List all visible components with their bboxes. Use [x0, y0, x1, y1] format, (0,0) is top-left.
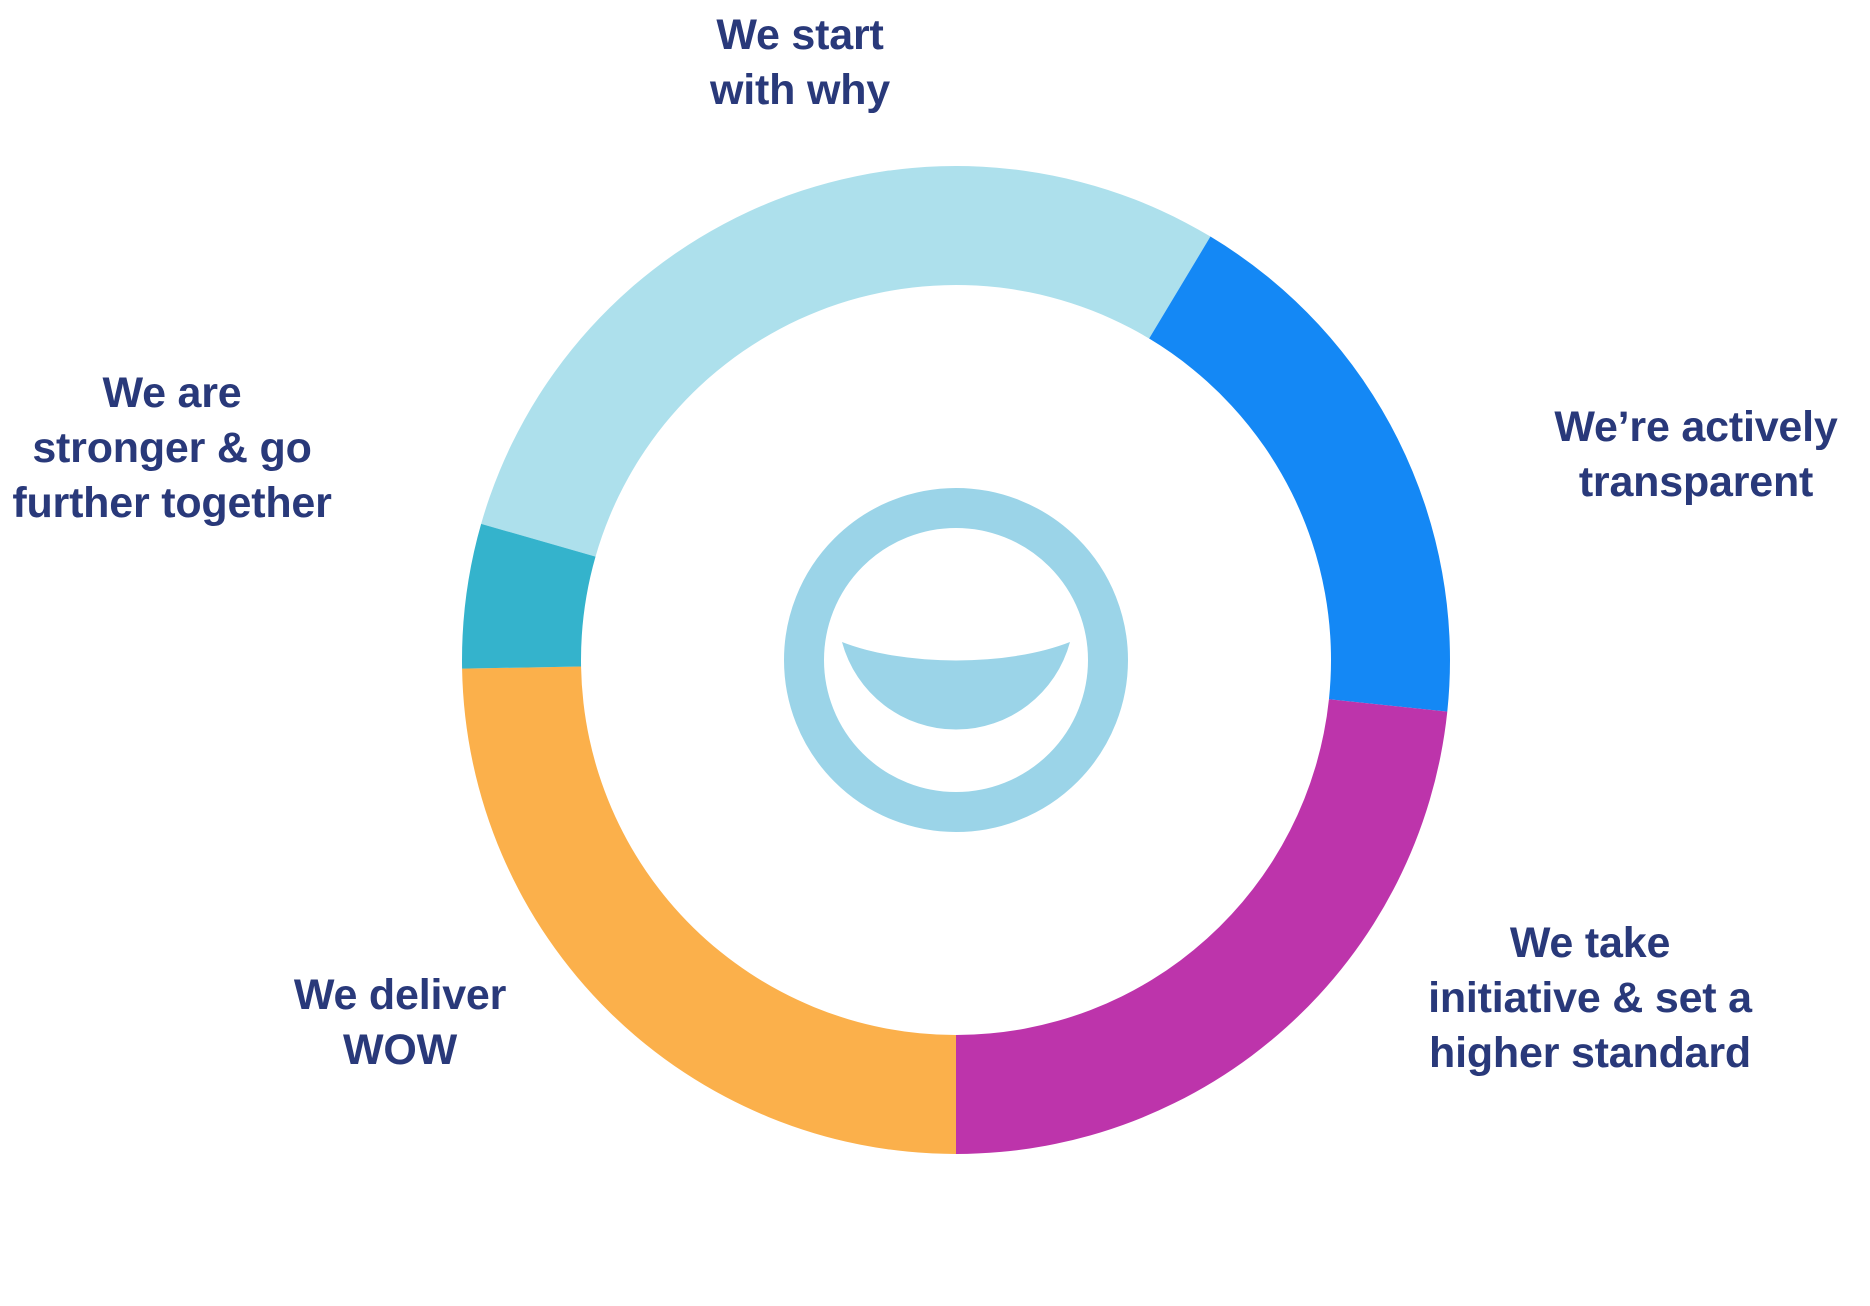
value-label-stronger-together: We are stronger & go further together — [0, 366, 352, 531]
donut-segment-2[interactable] — [1149, 237, 1450, 712]
value-label-deliver-wow: We deliver WOW — [190, 968, 610, 1078]
values-donut-chart — [462, 166, 1450, 1154]
value-label-take-initiative: We take initiative & set a higher standa… — [1370, 916, 1810, 1081]
smiley-ring-logo — [804, 508, 1108, 812]
donut-segment-1[interactable] — [481, 166, 1210, 557]
donut-segment-4[interactable] — [462, 667, 956, 1154]
value-label-actively-transparent: We’re actively transparent — [1510, 400, 1870, 510]
value-label-start-with-why: We start with why — [590, 8, 1010, 118]
values-wheel-canvas: We start with why We’re actively transpa… — [0, 0, 1870, 1306]
donut-svg — [462, 166, 1450, 1154]
logo-smile-crescent — [842, 642, 1070, 730]
